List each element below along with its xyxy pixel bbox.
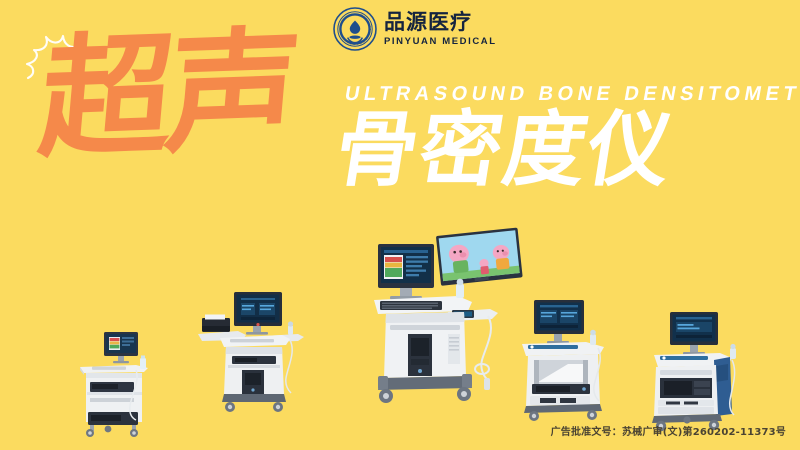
headline-chinese-white: 骨密度仪 [330, 110, 679, 192]
ultrasound-bone-densitometer-flagship-dual-screen[interactable] [364, 226, 526, 412]
brand-logo-block: PINYUAN MEDICAL 品源医疗 PINYUAN MEDICAL [333, 7, 497, 51]
advertisement-approval-number: 广告批准文号：苏械广审(文)第260202-11373号 [551, 423, 786, 438]
brand-name-en: PINYUAN MEDICAL [384, 37, 497, 47]
ultrasound-bone-densitometer-blue-panel-cart[interactable] [646, 310, 744, 434]
ultrasound-bone-densitometer-with-printer-cart[interactable] [192, 290, 308, 414]
poster-canvas: PINYUAN MEDICAL 品源医疗 PINYUAN MEDICAL 超声 … [0, 0, 800, 450]
brand-name-cn: 品源医疗 [384, 12, 497, 33]
pinyuan-medical-circular-logo: PINYUAN MEDICAL [333, 7, 377, 51]
ultrasound-bone-densitometer-console-cart[interactable] [518, 298, 616, 422]
ultrasound-bone-densitometer-compact-trolley[interactable] [70, 330, 162, 438]
headline-chinese-orange: 超声 [34, 25, 299, 166]
